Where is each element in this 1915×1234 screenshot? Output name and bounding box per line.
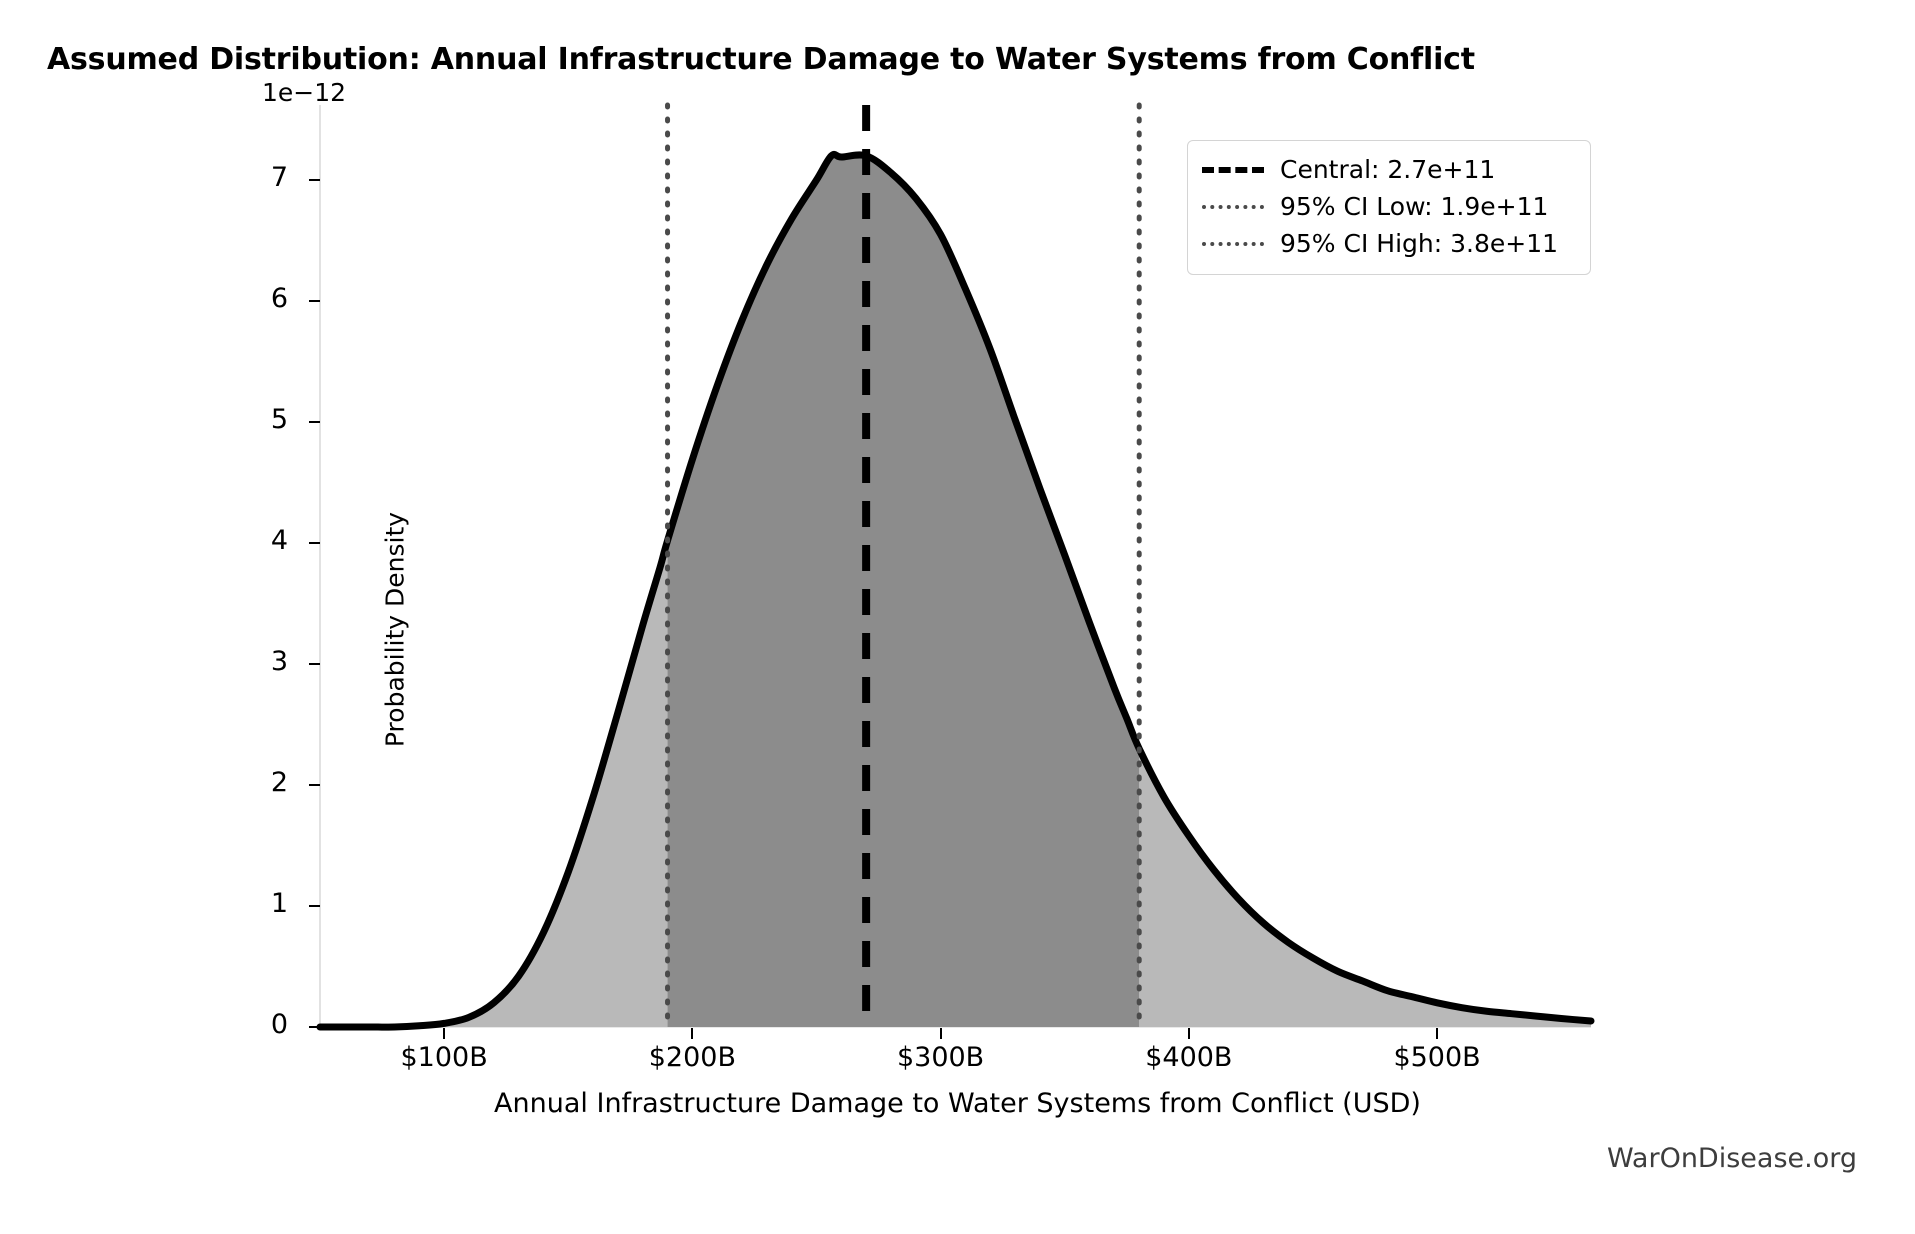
- y-tick-label: 7: [271, 162, 288, 193]
- x-tick-label: $300B: [897, 1042, 984, 1073]
- y-tick-mark: [309, 179, 320, 181]
- y-tick-label: 6: [271, 283, 288, 314]
- x-tick-mark: [443, 1028, 445, 1039]
- y-tick-label: 4: [271, 525, 288, 556]
- legend-label-ci-high: 95% CI High: 3.8e+11: [1280, 229, 1558, 258]
- x-tick-label: $200B: [649, 1042, 736, 1073]
- x-tick-label: $100B: [400, 1042, 487, 1073]
- y-tick-mark: [309, 905, 320, 907]
- x-tick-mark: [1188, 1028, 1190, 1039]
- y-tick-label: 3: [271, 646, 288, 677]
- x-tick-mark: [940, 1028, 942, 1039]
- dotted-line-icon: [1202, 197, 1264, 217]
- y-axis-offset-label: 1e−12: [262, 78, 346, 107]
- fill-inside-ci: [320, 154, 1591, 1027]
- y-tick-mark: [309, 300, 320, 302]
- x-axis-title: Annual Infrastructure Damage to Water Sy…: [0, 1088, 1915, 1119]
- chart-title: Assumed Distribution: Annual Infrastruct…: [47, 42, 1877, 77]
- dotted-line-icon: [1202, 234, 1264, 254]
- y-tick-label: 5: [271, 404, 288, 435]
- dashed-line-icon: [1202, 160, 1264, 180]
- legend-item-ci-high: 95% CI High: 3.8e+11: [1202, 225, 1576, 262]
- legend-item-ci-low: 95% CI Low: 1.9e+11: [1202, 188, 1576, 225]
- y-tick-mark: [309, 784, 320, 786]
- y-tick-mark: [309, 421, 320, 423]
- y-tick-label: 0: [271, 1009, 288, 1040]
- y-axis-title: Probability Density: [381, 430, 410, 830]
- chart-figure: Assumed Distribution: Annual Infrastruct…: [0, 0, 1915, 1234]
- y-tick-mark: [309, 542, 320, 544]
- x-tick-mark: [691, 1028, 693, 1039]
- x-tick-mark: [1436, 1028, 1438, 1039]
- watermark: WarOnDisease.org: [0, 1143, 1857, 1174]
- y-tick-label: 2: [271, 767, 288, 798]
- x-tick-label: $500B: [1393, 1042, 1480, 1073]
- x-tick-label: $400B: [1145, 1042, 1232, 1073]
- y-tick-label: 1: [271, 888, 288, 919]
- y-tick-mark: [309, 663, 320, 665]
- legend-label-central: Central: 2.7e+11: [1280, 155, 1495, 184]
- legend-label-ci-low: 95% CI Low: 1.9e+11: [1280, 192, 1548, 221]
- legend-item-central: Central: 2.7e+11: [1202, 151, 1576, 188]
- chart-legend: Central: 2.7e+11 95% CI Low: 1.9e+11 95%…: [1187, 140, 1591, 275]
